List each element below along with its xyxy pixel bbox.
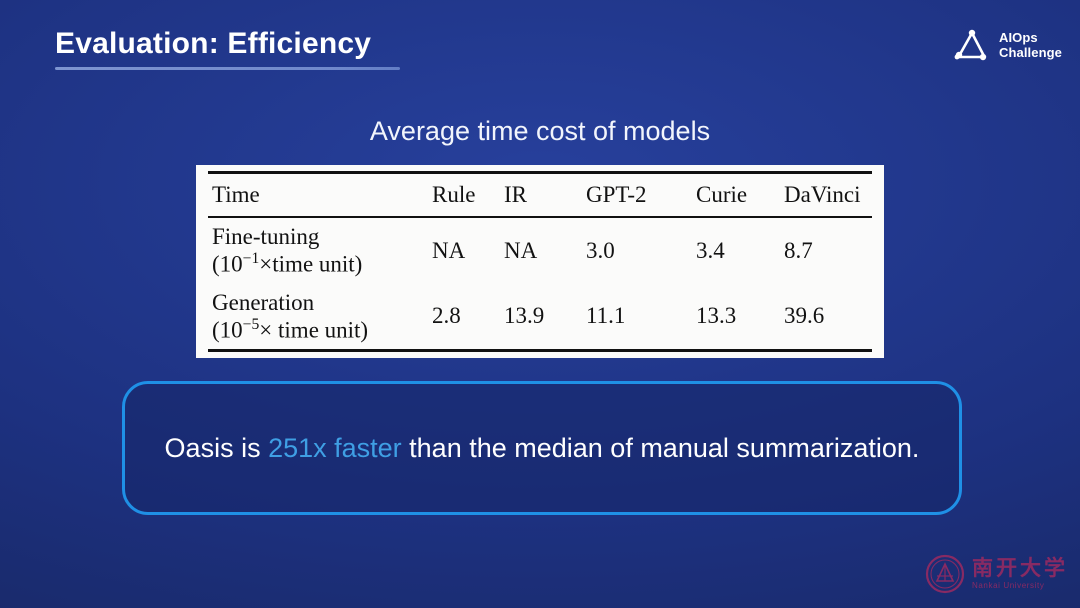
university-name-cn: 南开大学 [972, 557, 1068, 580]
time-cost-table-panel: Time Rule IR GPT-2 Curie DaVinci Fine-tu… [196, 165, 884, 358]
row-label-line-2: (10−1×time unit) [212, 250, 432, 278]
slide-canvas: Evaluation: Efficiency AIOps Challenge A… [0, 0, 1080, 608]
brand-line-2: Challenge [999, 45, 1062, 60]
cell-fine-tuning-rule: NA [432, 217, 504, 284]
section-subtitle: Average time cost of models [0, 116, 1080, 147]
cell-generation-rule: 2.8 [432, 284, 504, 351]
cell-fine-tuning-ir: NA [504, 217, 586, 284]
page-title: Evaluation: Efficiency [55, 27, 371, 61]
callout-highlight: 251x faster [268, 433, 402, 463]
cell-fine-tuning-davinci: 8.7 [784, 217, 872, 284]
cell-fine-tuning-curie: 3.4 [696, 217, 784, 284]
column-header-ir: IR [504, 173, 586, 217]
row-label-generation: Generation (10−5× time unit) [208, 284, 432, 351]
table-header-row: Time Rule IR GPT-2 Curie DaVinci [208, 173, 872, 217]
table-row: Generation (10−5× time unit) 2.8 13.9 11… [208, 284, 872, 351]
time-cost-table: Time Rule IR GPT-2 Curie DaVinci Fine-tu… [208, 171, 872, 352]
column-header-curie: Curie [696, 173, 784, 217]
column-header-rule: Rule [432, 173, 504, 217]
column-header-time: Time [208, 173, 432, 217]
cell-generation-gpt2: 11.1 [586, 284, 696, 351]
row-label-fine-tuning: Fine-tuning (10−1×time unit) [208, 217, 432, 284]
callout-text: Oasis is 251x faster than the median of … [165, 433, 920, 464]
column-header-davinci: DaVinci [784, 173, 872, 217]
row-label-line-1: Fine-tuning [212, 223, 432, 250]
table-header: Time Rule IR GPT-2 Curie DaVinci [208, 173, 872, 217]
cell-generation-davinci: 39.6 [784, 284, 872, 351]
column-header-gpt2: GPT-2 [586, 173, 696, 217]
university-name-en: Nankai University [972, 582, 1068, 591]
callout-text-after: than the median of manual summarization. [402, 433, 920, 463]
row-label-line-1: Generation [212, 289, 432, 316]
table-body: Fine-tuning (10−1×time unit) NA NA 3.0 3… [208, 217, 872, 351]
university-seal-icon [925, 554, 965, 594]
cell-generation-ir: 13.9 [504, 284, 586, 351]
callout-text-before: Oasis is [165, 433, 269, 463]
aiops-challenge-logo: AIOps Challenge [951, 27, 1062, 63]
nankai-university-logo: 南开大学 Nankai University [925, 554, 1068, 594]
cell-generation-curie: 13.3 [696, 284, 784, 351]
table-row: Fine-tuning (10−1×time unit) NA NA 3.0 3… [208, 217, 872, 284]
cell-fine-tuning-gpt2: 3.0 [586, 217, 696, 284]
title-underline-divider [55, 67, 400, 70]
takeaway-callout-box: Oasis is 251x faster than the median of … [122, 381, 962, 515]
row-label-line-2: (10−5× time unit) [212, 316, 432, 344]
brand-wordmark: AIOps Challenge [999, 30, 1062, 61]
university-name-block: 南开大学 Nankai University [972, 557, 1068, 591]
brand-line-1: AIOps [999, 30, 1038, 45]
network-triangle-icon [951, 27, 991, 63]
